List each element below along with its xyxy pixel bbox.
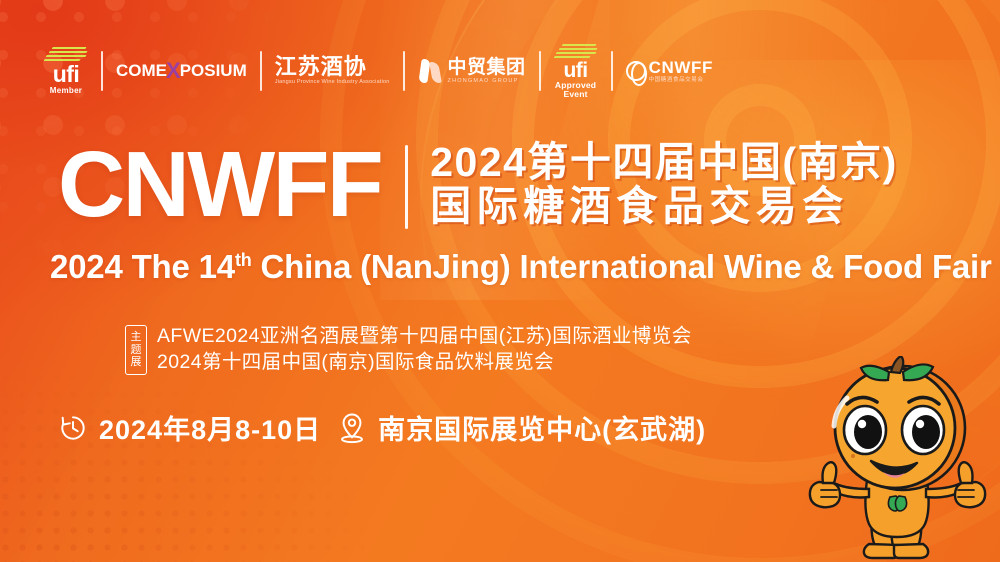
event-venue-text: 南京国际展览中心(玄武湖) bbox=[378, 408, 706, 447]
orange-fruit-mascot bbox=[795, 356, 1000, 562]
hero-divider bbox=[405, 145, 408, 229]
zhongmao-group-logo: 中贸集团 ZHONGMAO GROUP bbox=[418, 57, 526, 85]
event-venue-item: 南京国际展览中心(玄武湖) bbox=[337, 408, 706, 447]
event-date-text: 2024年8月8-10日 bbox=[99, 408, 321, 447]
ufi-approved-logo-text: ufi bbox=[563, 60, 587, 81]
ufi-approved-line3: Event bbox=[563, 90, 587, 99]
theme-exhibitions-block: 主 题 展 AFWE2024亚洲名酒展暨第十四届中国(江苏)国际酒业博览会 20… bbox=[125, 325, 692, 375]
clock-icon bbox=[58, 413, 88, 443]
location-pin-icon bbox=[337, 412, 367, 444]
ufi-approved-event-logo: ufi Approved Event bbox=[554, 44, 598, 98]
globe-icon bbox=[626, 61, 646, 81]
theme-badge: 主 题 展 bbox=[125, 325, 147, 375]
theme-badge-char-2: 题 bbox=[131, 344, 142, 356]
event-date-item: 2024年8月8-10日 bbox=[58, 408, 321, 447]
cnwff-logo: CNWFF 中国糖酒食品交易会 bbox=[626, 59, 713, 84]
comexposium-logo: COME X POSIUM bbox=[116, 58, 247, 84]
theme-exhibition-line: AFWE2024亚洲名酒展暨第十四届中国(江苏)国际酒业博览会 bbox=[157, 325, 692, 348]
theme-exhibition-line: 2024第十四届中国(南京)国际食品饮料展览会 bbox=[157, 351, 692, 374]
subtitle-suffix: China (NanJing) International Wine & Foo… bbox=[252, 248, 992, 285]
zhongmao-name: 中贸集团 bbox=[448, 58, 526, 77]
promotional-banner: ufi Member COME X POSIUM 江苏酒协 Jiangsu Pr… bbox=[0, 0, 1000, 562]
english-subtitle: 2024 The 14th China (NanJing) Internatio… bbox=[50, 248, 992, 286]
hero-chinese-line-1: 2024第十四届中国(南京) bbox=[430, 140, 898, 184]
ufi-member-logo-subtext: Member bbox=[50, 87, 82, 95]
subtitle-prefix: 2024 The 14 bbox=[50, 248, 235, 285]
jiangsu-assoc-subname: Jiangsu Province Wine Industry Associati… bbox=[275, 80, 390, 86]
wing-icon bbox=[554, 44, 598, 59]
theme-badge-char-3: 展 bbox=[131, 356, 142, 368]
wing-icon bbox=[44, 47, 88, 62]
comexposium-x-mark: X bbox=[166, 58, 181, 84]
sponsor-logo-bar: ufi Member COME X POSIUM 江苏酒协 Jiangsu Pr… bbox=[44, 48, 713, 94]
subtitle-ordinal: th bbox=[235, 250, 252, 270]
logo-divider bbox=[101, 51, 103, 91]
logo-divider bbox=[539, 51, 541, 91]
zhongmao-subname: ZHONGMAO GROUP bbox=[448, 79, 526, 85]
jiangsu-assoc-name: 江苏酒协 bbox=[275, 56, 390, 78]
logo-divider bbox=[260, 51, 262, 91]
theme-badge-char-1: 主 bbox=[131, 331, 142, 343]
event-info-row: 2024年8月8-10日 南京国际展览中心(玄武湖) bbox=[58, 408, 706, 447]
mascot-illustration bbox=[795, 356, 1000, 562]
logo-divider bbox=[611, 51, 613, 91]
cnwff-logo-name: CNWFF bbox=[649, 59, 713, 76]
ufi-member-logo: ufi Member bbox=[44, 47, 88, 95]
cnwff-logo-subname: 中国糖酒食品交易会 bbox=[649, 78, 713, 84]
ufi-member-logo-text: ufi bbox=[53, 63, 80, 86]
event-acronym: CNWFF bbox=[58, 140, 381, 228]
comexposium-part2: POSIUM bbox=[180, 61, 247, 81]
zhongmao-mark-icon bbox=[418, 57, 444, 85]
comexposium-part1: COME bbox=[116, 61, 167, 81]
jiangsu-wine-association-logo: 江苏酒协 Jiangsu Province Wine Industry Asso… bbox=[275, 56, 390, 86]
hero-chinese-line-2: 国际糖酒食品交易会 bbox=[430, 184, 898, 228]
logo-divider bbox=[403, 51, 405, 91]
decorative-halftone-dots bbox=[0, 352, 400, 562]
hero-title-block: CNWFF 2024第十四届中国(南京) 国际糖酒食品交易会 bbox=[58, 140, 898, 229]
